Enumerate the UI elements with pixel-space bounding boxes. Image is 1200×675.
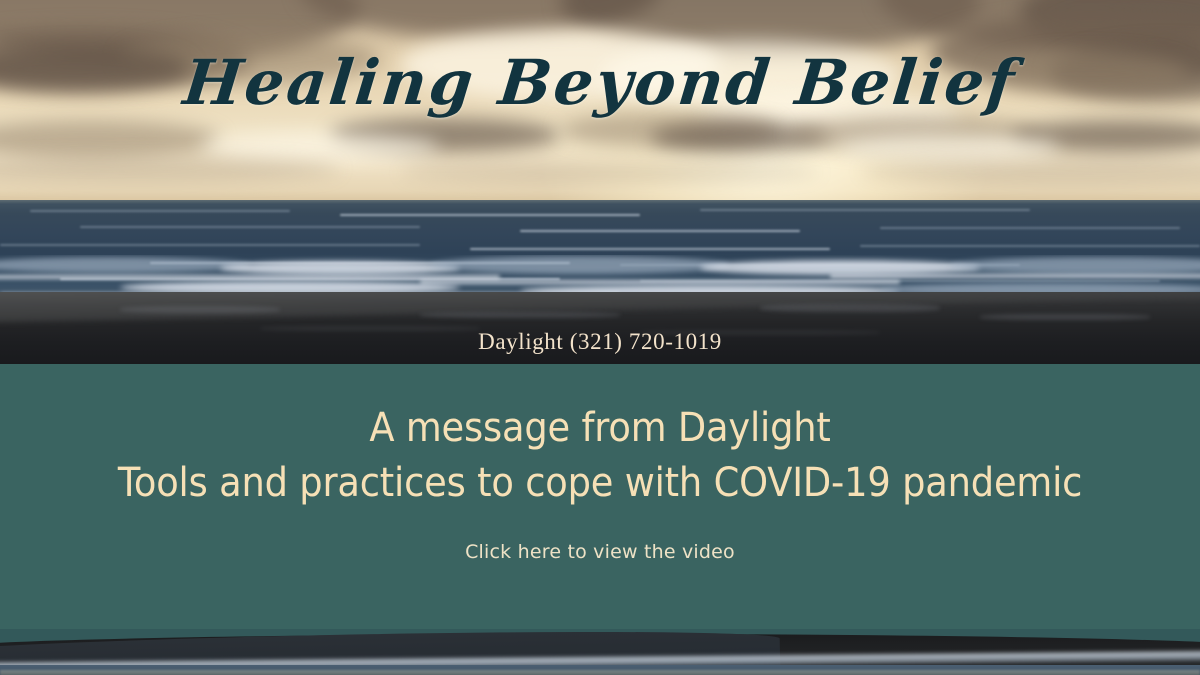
page-title: Healing Beyond Belief [0,46,1200,119]
view-video-link[interactable]: Click here to view the video [0,541,1200,563]
message-headline-primary: A message from Daylight [48,405,1152,451]
banner-phone-number: Daylight (321) 720-1019 [0,329,1200,355]
message-headline-secondary: Tools and practices to cope with COVID-1… [48,460,1152,506]
footer-wet-sand [0,670,1200,675]
footer-beach-image [0,629,1200,675]
header-banner-image: Healing Beyond Belief Daylight (321) 720… [0,0,1200,364]
page-root: Healing Beyond Belief Daylight (321) 720… [0,0,1200,675]
